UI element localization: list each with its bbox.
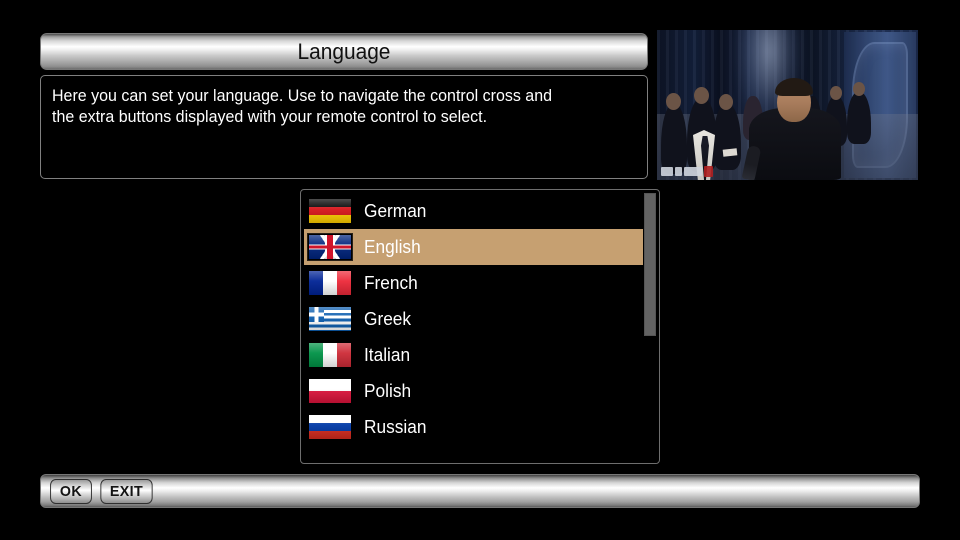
language-list-item-label: Greek [364,309,411,330]
softkey-bar: OK EXIT [40,474,920,508]
flag-gloss [309,379,351,403]
crowd-figure-head [666,93,681,110]
channel-watermark [661,166,713,177]
flag-italy-icon [308,342,352,368]
language-list-item[interactable]: French [304,265,646,301]
watermark-segment-accent [704,166,713,177]
flag-russia-icon [308,414,352,440]
language-list-item[interactable]: Italian [304,337,646,373]
description-text: Here you can set your language. Use to n… [52,86,618,128]
language-list-item[interactable]: German [304,193,646,229]
ok-button[interactable]: OK [50,479,92,504]
flag-greece-icon [308,306,352,332]
language-list-item-label: Russian [364,417,426,438]
ok-button-label: OK [60,483,82,500]
flag-poland-icon [308,378,352,404]
video-frame [657,30,918,180]
live-tv-preview[interactable] [657,30,918,180]
list-scrollbar-thumb[interactable] [644,193,656,336]
flag-gloss [309,199,351,223]
crowd-figure-head [719,94,733,110]
language-list-item[interactable]: English [304,229,646,265]
page-title: Language [297,39,390,65]
language-list-item-label: French [364,273,418,294]
crowd-figure-head [694,87,709,104]
list-scrollbar-track[interactable] [643,192,657,463]
language-list-item-label: Polish [364,381,411,402]
crowd-figure [713,104,741,170]
crowd-figure [661,104,687,174]
flag-germany-icon [308,198,352,224]
tv-osd-screen: Language Here you can set your language.… [0,0,960,540]
flag-united-kingdom-icon [308,234,352,260]
language-list-item[interactable]: Polish [304,373,646,409]
exit-button-label: EXIT [110,483,143,500]
watermark-segment [684,167,702,176]
flag-gloss [309,271,351,295]
language-list-item[interactable]: Russian [304,409,646,445]
crowd-figure-head [853,82,865,96]
language-list[interactable]: GermanEnglishFrenchGreekItalianPolishRus… [304,193,646,445]
crowd-figure-head [830,86,842,100]
description-panel: Here you can set your language. Use to n… [40,75,648,179]
language-list-item-label: German [364,201,426,222]
flag-gloss [309,343,351,367]
page-title-bar: Language [40,33,648,70]
flag-france-icon [308,270,352,296]
watermark-segment [661,167,673,176]
crowd-figure [847,92,871,144]
flag-gloss [309,307,351,331]
reporter-pocket-square [723,148,738,156]
watermark-segment [675,167,682,176]
flag-gloss [309,415,351,439]
language-list-item-label: English [364,237,421,258]
exit-button[interactable]: EXIT [100,479,152,504]
language-list-item[interactable]: Greek [304,301,646,337]
flag-gloss [309,235,351,259]
language-list-panel[interactable]: GermanEnglishFrenchGreekItalianPolishRus… [300,189,660,464]
language-list-item-label: Italian [364,345,410,366]
